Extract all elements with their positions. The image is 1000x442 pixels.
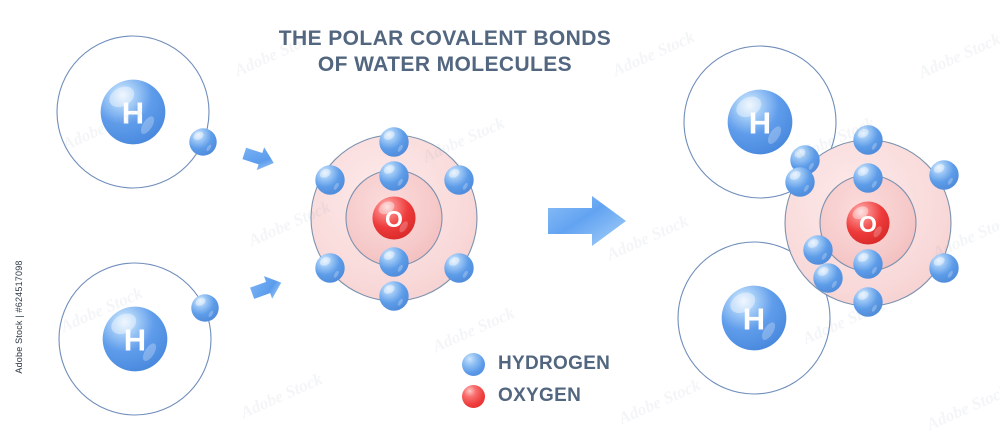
hydrogen-symbol: H bbox=[122, 96, 144, 131]
outer-shell-electron bbox=[315, 165, 344, 194]
legend-item-hydrogen: HYDROGEN bbox=[462, 348, 610, 380]
outer-shell-electron bbox=[315, 253, 344, 282]
outer-shell-electron bbox=[444, 165, 473, 194]
legend-label-oxygen: OXYGEN bbox=[498, 385, 581, 407]
legend-item-oxygen: OXYGEN bbox=[462, 380, 610, 412]
electron bbox=[191, 294, 218, 321]
outer-shell-electron bbox=[929, 253, 958, 282]
outer-shell-electron bbox=[379, 281, 408, 310]
legend-label-hydrogen: HYDROGEN bbox=[498, 353, 610, 375]
shared-pair-bottom bbox=[803, 235, 832, 264]
outer-shell-electron bbox=[379, 127, 408, 156]
reaction-arrow bbox=[548, 196, 626, 246]
inner-shell-electron bbox=[853, 163, 882, 192]
arrow-bottom-left bbox=[248, 271, 285, 304]
stock-watermark-label: Adobe Stock | #624517098 bbox=[14, 252, 24, 382]
shared-pair-top bbox=[785, 167, 814, 196]
inner-shell-electron bbox=[853, 249, 882, 278]
hydrogen-symbol: H bbox=[124, 323, 146, 358]
hydrogen-atom-bottom-left[interactable]: H bbox=[59, 263, 219, 415]
outer-shell-electron bbox=[444, 253, 473, 282]
inner-shell-electron bbox=[379, 161, 408, 190]
oxygen-atom-molecule: O bbox=[785, 125, 959, 316]
water-molecule[interactable]: O H H bbox=[678, 46, 959, 394]
outer-shell-electron bbox=[929, 160, 958, 189]
electron bbox=[189, 128, 216, 155]
outer-shell-electron bbox=[813, 263, 842, 292]
oxygen-sphere-icon bbox=[462, 385, 485, 408]
page-title: THE POLAR COVALENT BONDS OF WATER MOLECU… bbox=[210, 26, 680, 78]
hydrogen-atom-top-left[interactable]: H bbox=[57, 36, 217, 188]
inner-shell-electron bbox=[379, 247, 408, 276]
hydrogen-atom-molecule-bottom: H bbox=[722, 286, 787, 351]
outer-shell-electron bbox=[853, 287, 882, 316]
outer-shell-electron bbox=[853, 125, 882, 154]
hydrogen-atom-molecule-top: H bbox=[728, 90, 793, 155]
hydrogen-symbol: H bbox=[743, 302, 765, 337]
arrow-top-left bbox=[241, 142, 278, 174]
legend: HYDROGEN OXYGEN bbox=[462, 348, 610, 412]
oxygen-symbol: O bbox=[385, 206, 403, 232]
hydrogen-sphere-icon bbox=[462, 353, 485, 376]
diagram-canvas: H H O bbox=[0, 0, 1000, 442]
oxygen-symbol: O bbox=[859, 211, 877, 237]
oxygen-atom-center[interactable]: O bbox=[311, 127, 477, 310]
hydrogen-symbol: H bbox=[749, 106, 771, 141]
